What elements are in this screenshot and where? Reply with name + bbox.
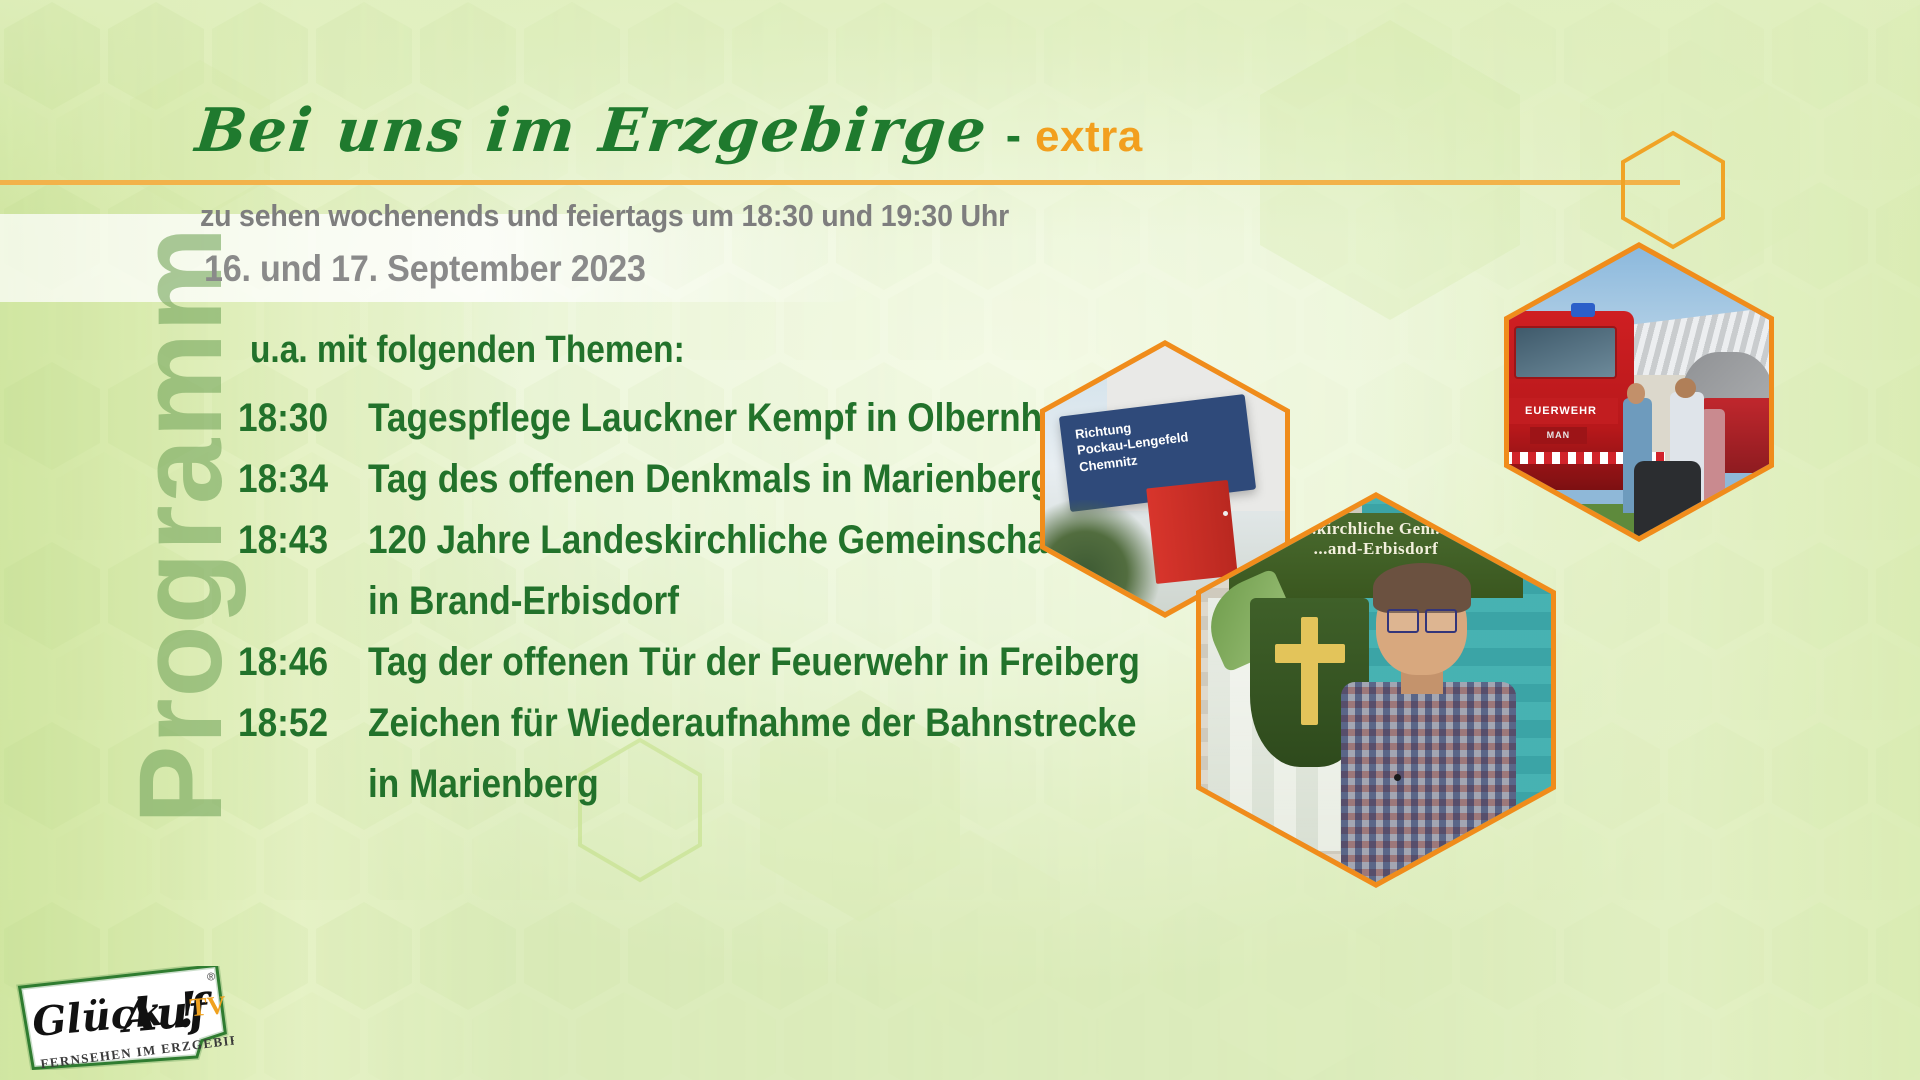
entry-title: Tag der offenen Tür der Feuerwehr in Fre… [368, 640, 1140, 685]
broadcast-date: 16. und 17. September 2023 [204, 248, 646, 290]
logo-registered-mark: ® [207, 971, 216, 984]
title-extra-badge: extra [1035, 112, 1143, 162]
entry-title: Zeichen für Wiederaufnahme der Bahnstrec… [368, 701, 1136, 746]
entry-title: Tagespflege Lauckner Kempf in Olbernhau [368, 396, 1083, 441]
broadcast-slide: Programm Bei uns im Erzgebirge - extra z… [0, 0, 1920, 1080]
broadcast-times-subtitle: zu sehen wochenends und feiertags um 18:… [200, 198, 1009, 234]
title-main-text: Bei uns im Erzgebirge [192, 96, 991, 166]
fire-truck-label: EUERWEHR [1509, 398, 1618, 424]
entry-time: 18:30 [238, 396, 352, 441]
programm-vertical-label: Programm [122, 226, 240, 824]
channel-logo[interactable]: Glück Auf ! TV ® FERNSEHEN IM ERZGEBIRGE [14, 966, 234, 1070]
title-dash: - [1006, 108, 1021, 162]
entry-title: Tag des offenen Denkmals in Marienberg [368, 457, 1052, 502]
entry-title: 120 Jahre Landeskirchliche Gemeinschaft [368, 518, 1070, 563]
entry-title-continuation: in Brand-Erbisdorf [368, 579, 679, 624]
entry-time: 18:43 [238, 518, 352, 563]
topics-heading: u.a. mit folgenden Themen: [250, 329, 685, 372]
entry-time: 18:52 [238, 701, 352, 746]
hexagon-outline-decoration [1618, 130, 1728, 250]
logo-tv-text: TV [188, 990, 227, 1022]
entry-title-continuation: in Marienberg [368, 762, 599, 807]
programme-row: 18:46 Tag der offenen Tür der Feuerwehr … [238, 640, 1298, 701]
entry-time: 18:34 [238, 457, 352, 502]
title-rule [0, 180, 1680, 185]
fire-truck-brand: MAN [1530, 427, 1587, 444]
programme-row-continuation: 18:52 in Marienberg [238, 762, 1298, 823]
programme-row: 18:52 Zeichen für Wiederaufnahme der Bah… [238, 701, 1298, 762]
slide-title: Bei uns im Erzgebirge - extra [196, 96, 1143, 166]
entry-time: 18:46 [238, 640, 352, 685]
